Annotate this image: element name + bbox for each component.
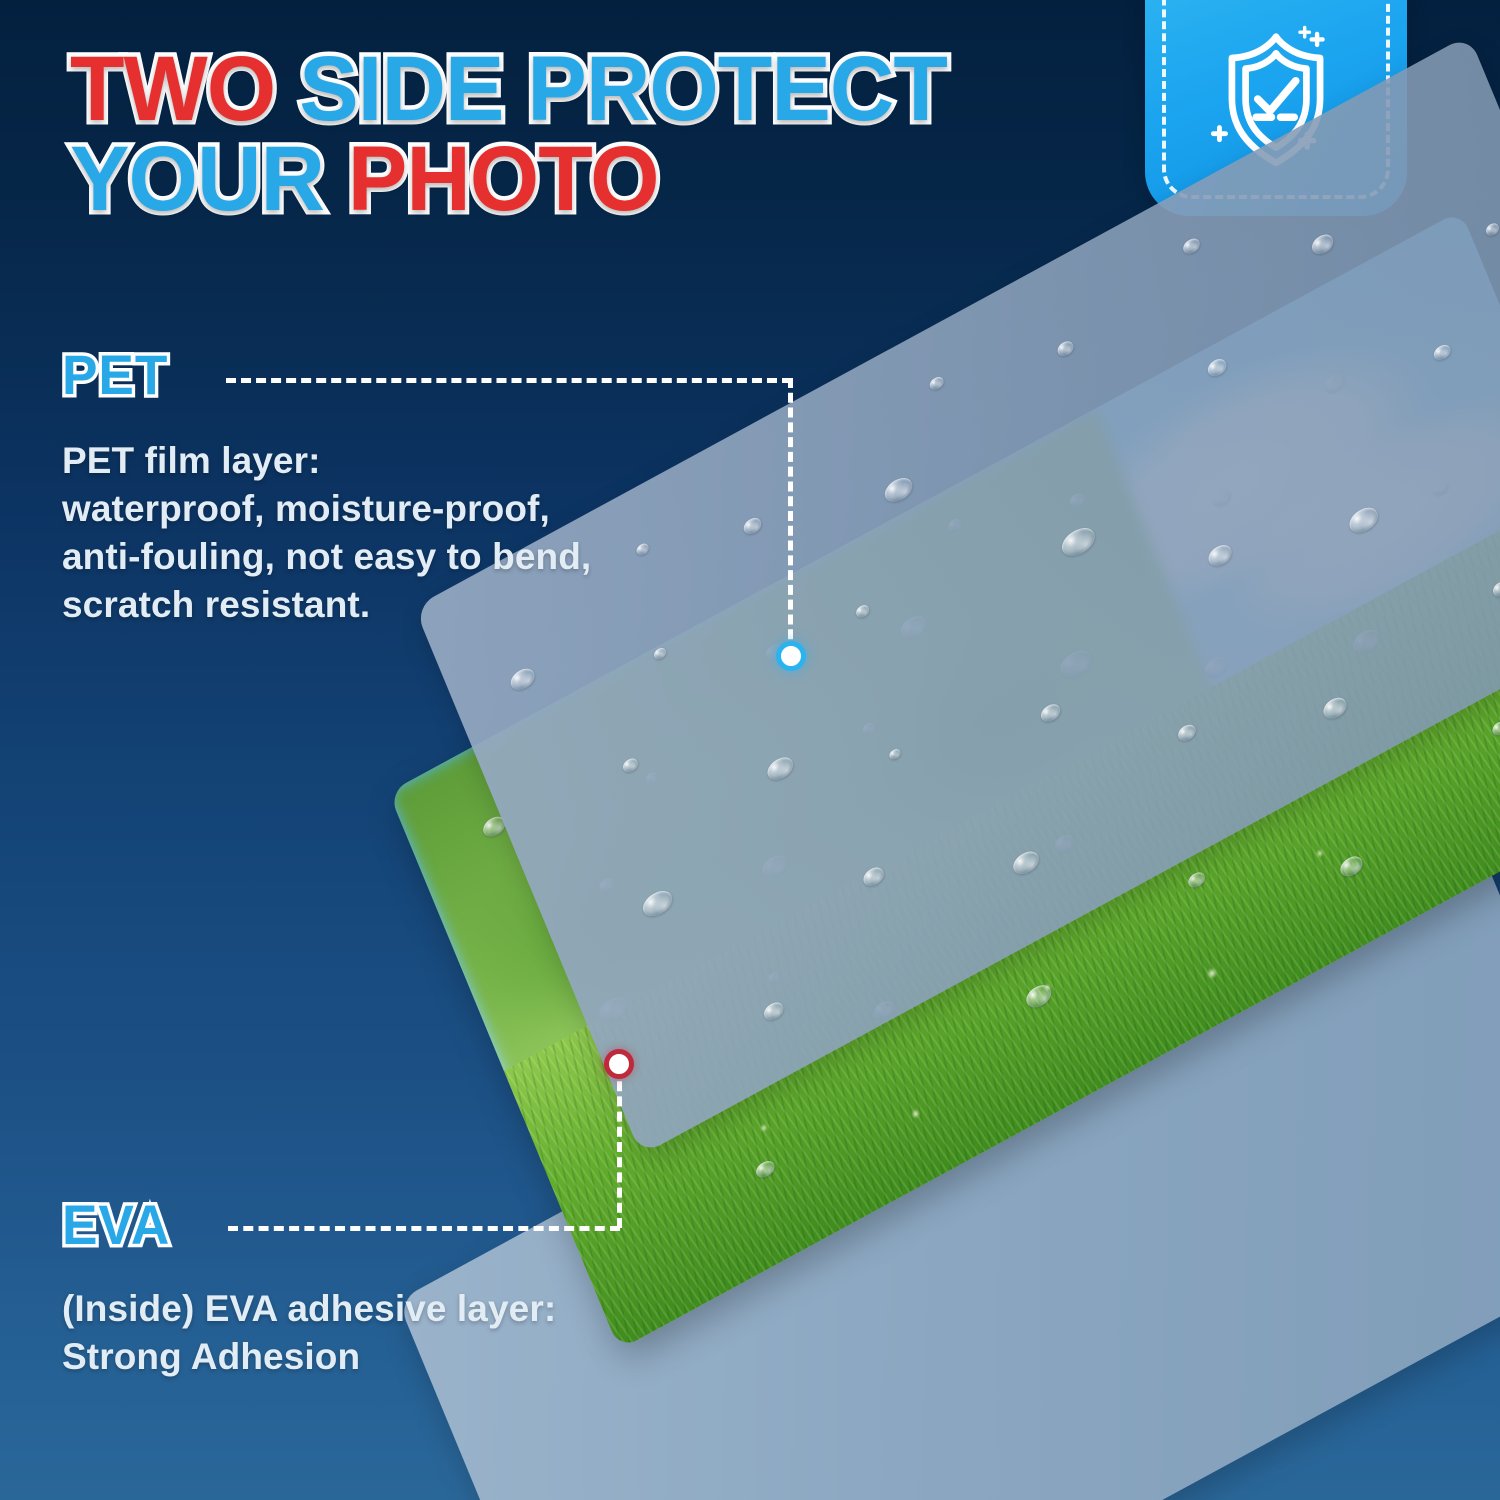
eva-leader-line-vertical — [617, 1066, 622, 1228]
headline-line-2: YOUR PHOTO — [70, 134, 1059, 224]
pet-description-line: scratch resistant. — [62, 581, 702, 629]
pet-description-heading: PET film layer: — [62, 437, 702, 485]
pet-description-line: waterproof, moisture-proof, — [62, 485, 702, 533]
pet-leader-line-horizontal — [226, 378, 792, 383]
pet-tag-label: PET — [62, 342, 168, 407]
pet-leader-line-vertical — [788, 378, 793, 654]
headline-line-1: TWO SIDE PROTECT — [70, 44, 1059, 134]
headline-word-two: TWO — [70, 38, 299, 140]
eva-tag-label: EVA — [62, 1192, 170, 1257]
eva-leader-line-horizontal — [228, 1226, 620, 1231]
eva-description-heading: (Inside) EVA adhesive layer: — [62, 1285, 702, 1333]
pet-description: PET film layer: waterproof, moisture-pro… — [62, 437, 702, 629]
headline-word-photo: PHOTO — [348, 128, 659, 230]
page-title: TWO SIDE PROTECT YOUR PHOTO — [70, 44, 1059, 224]
infographic-canvas: TWO SIDE PROTECT YOUR PHOTO — [0, 0, 1500, 1500]
headline-word-your: YOUR — [70, 128, 348, 230]
eva-endpoint-dot — [604, 1049, 634, 1079]
eva-description: (Inside) EVA adhesive layer: Strong Adhe… — [62, 1285, 702, 1381]
pet-endpoint-dot — [776, 641, 806, 671]
pet-description-line: anti-fouling, not easy to bend, — [62, 533, 702, 581]
headline-word-side-protect: SIDE PROTECT — [299, 38, 947, 140]
eva-description-line: Strong Adhesion — [62, 1333, 702, 1381]
